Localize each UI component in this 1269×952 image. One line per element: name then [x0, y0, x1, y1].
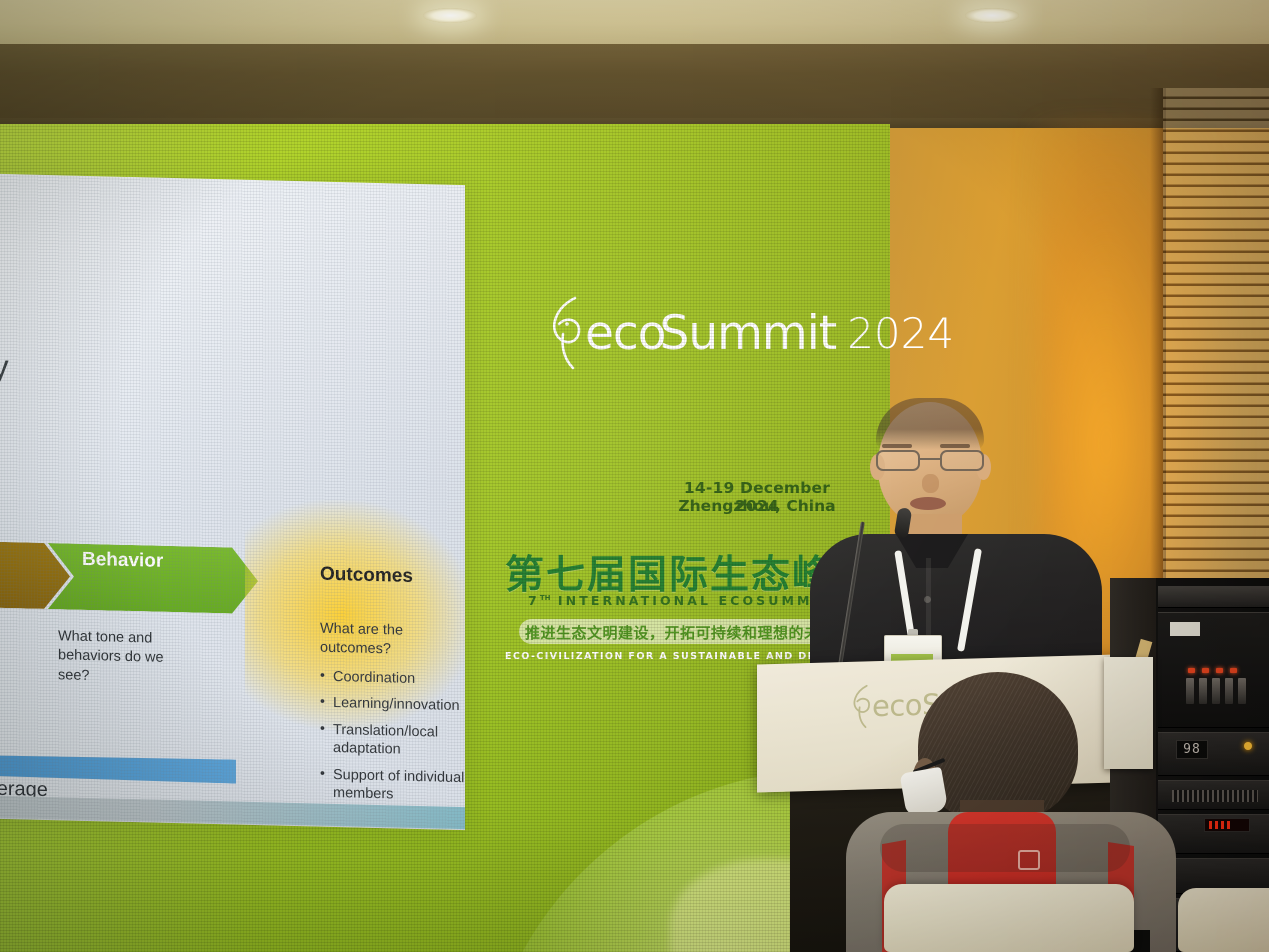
rack-processor-unit — [1158, 732, 1269, 776]
outcomes-heading: Outcomes — [320, 564, 413, 588]
status-led — [1216, 668, 1223, 673]
speaker-nose — [922, 474, 939, 493]
ecosummit-logo: eco Summit 2024 — [545, 294, 954, 372]
list-item: Learning/innovation — [320, 694, 465, 717]
leaf-icon — [545, 294, 589, 372]
fader[interactable] — [1225, 678, 1233, 704]
shirt-button — [924, 596, 931, 603]
outcomes-question: What are the outcomes? — [320, 620, 465, 663]
brand-year: 2024 — [847, 309, 954, 358]
equalizer-slider-strip[interactable] — [1172, 790, 1258, 802]
ceiling-soffit — [0, 44, 1269, 128]
slide-title: onomy — [0, 346, 9, 386]
fader[interactable] — [1238, 678, 1246, 704]
fader[interactable] — [1186, 678, 1194, 704]
brand-summit: Summit — [660, 310, 837, 357]
brand-eco: eco — [585, 310, 666, 357]
list-item: Translation/local adaptation — [320, 720, 465, 761]
ceiling-downlight-right — [965, 8, 1019, 23]
glasses-lens — [940, 450, 984, 471]
console-led-row — [1188, 668, 1262, 674]
fader[interactable] — [1212, 678, 1220, 704]
face-mask-icon — [899, 767, 948, 818]
speaker-mouth — [910, 497, 946, 510]
status-led — [1202, 668, 1209, 673]
slide-column-dynamics: What dynamics or patterns come into play… — [0, 622, 34, 684]
conference-photo-scene: eco Summit 2024 14-19 December 2024 Zhen… — [0, 0, 1269, 952]
fader[interactable] — [1199, 678, 1207, 704]
speaker-torso — [810, 534, 1102, 674]
glasses-lens — [876, 450, 920, 471]
audience-chair — [884, 884, 1134, 952]
slide-column-outcomes: What are the outcomes? Coordination Lear… — [320, 620, 465, 815]
status-led — [1188, 668, 1195, 673]
ordinal-number: 7 — [528, 593, 540, 608]
glasses-bridge — [920, 458, 942, 460]
wooden-slat-panel — [1163, 88, 1269, 596]
audience-chair — [1178, 888, 1269, 952]
list-item: Support of individual members — [320, 765, 465, 806]
speaker-eyebrow — [882, 444, 912, 448]
segment-display: 98 — [1176, 740, 1208, 759]
ceiling-downlight-left — [423, 8, 477, 23]
english-title-rest: INTERNATIONAL ECOSUMMIT — [550, 593, 832, 608]
rack-vent-panel — [1158, 586, 1269, 608]
amplifier-led — [1244, 742, 1252, 750]
jacket-hood — [880, 824, 1130, 872]
slide-column-behavior: What tone and behaviors do we see? — [58, 627, 226, 689]
list-item: Coordination — [320, 667, 465, 690]
ordinal-suffix: TH — [540, 594, 551, 602]
console-fader-row[interactable] — [1186, 678, 1266, 704]
outcomes-bullet-list: Coordination Learning/innovation Transla… — [320, 667, 465, 807]
chevron-behavior: Behavior — [48, 543, 258, 614]
speaker-eyebrow — [940, 444, 970, 448]
jacket-logo-icon — [1018, 850, 1040, 870]
banner-chinese-tagline: 推进生态文明建设，开拓可持续和理想的未来 — [519, 622, 841, 643]
glasses-icon — [874, 450, 988, 472]
status-led — [1230, 668, 1237, 673]
chevron-label: Behavior — [82, 550, 163, 572]
projected-slide: onomy Design/ Construction Dynamics Beha… — [0, 166, 465, 830]
red-readout-display — [1204, 818, 1250, 832]
speaker-hair — [876, 398, 984, 450]
rack-label-plate — [1170, 622, 1200, 636]
